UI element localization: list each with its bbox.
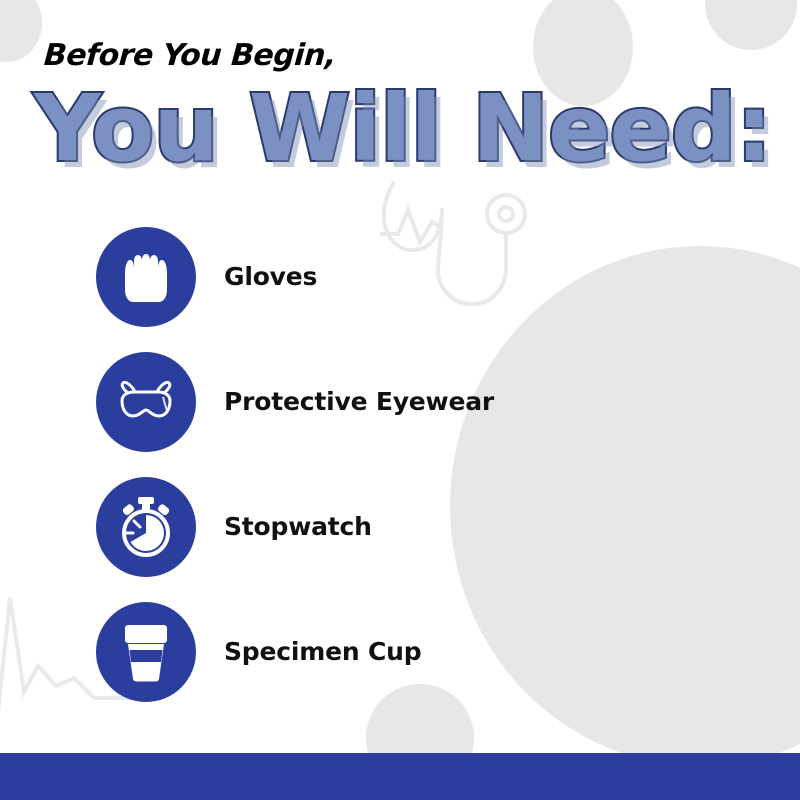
list-item-label: Specimen Cup xyxy=(224,637,421,666)
stopwatch-icon xyxy=(96,477,196,577)
list-item: Gloves xyxy=(96,214,736,339)
list-item: Specimen Cup xyxy=(96,589,736,714)
list-item-label: Protective Eyewear xyxy=(224,387,494,416)
circle-top-left-decoration xyxy=(0,0,42,62)
safety-goggles-icon xyxy=(96,352,196,452)
gloves-icon xyxy=(96,227,196,327)
list-item-label: Gloves xyxy=(224,262,317,291)
footer-bar xyxy=(0,753,800,800)
page-title: You Will Need: xyxy=(34,83,771,175)
supplies-checklist: Gloves Protective Eyewear xyxy=(96,214,736,714)
kicker-text: Before You Begin, xyxy=(43,38,337,73)
list-item: Stopwatch xyxy=(96,464,736,589)
poster-canvas: Before You Begin, You Will Need: Gloves xyxy=(0,0,800,800)
specimen-cup-icon xyxy=(96,602,196,702)
list-item: Protective Eyewear xyxy=(96,339,736,464)
list-item-label: Stopwatch xyxy=(224,512,372,541)
circle-top-right-decoration xyxy=(705,0,797,50)
